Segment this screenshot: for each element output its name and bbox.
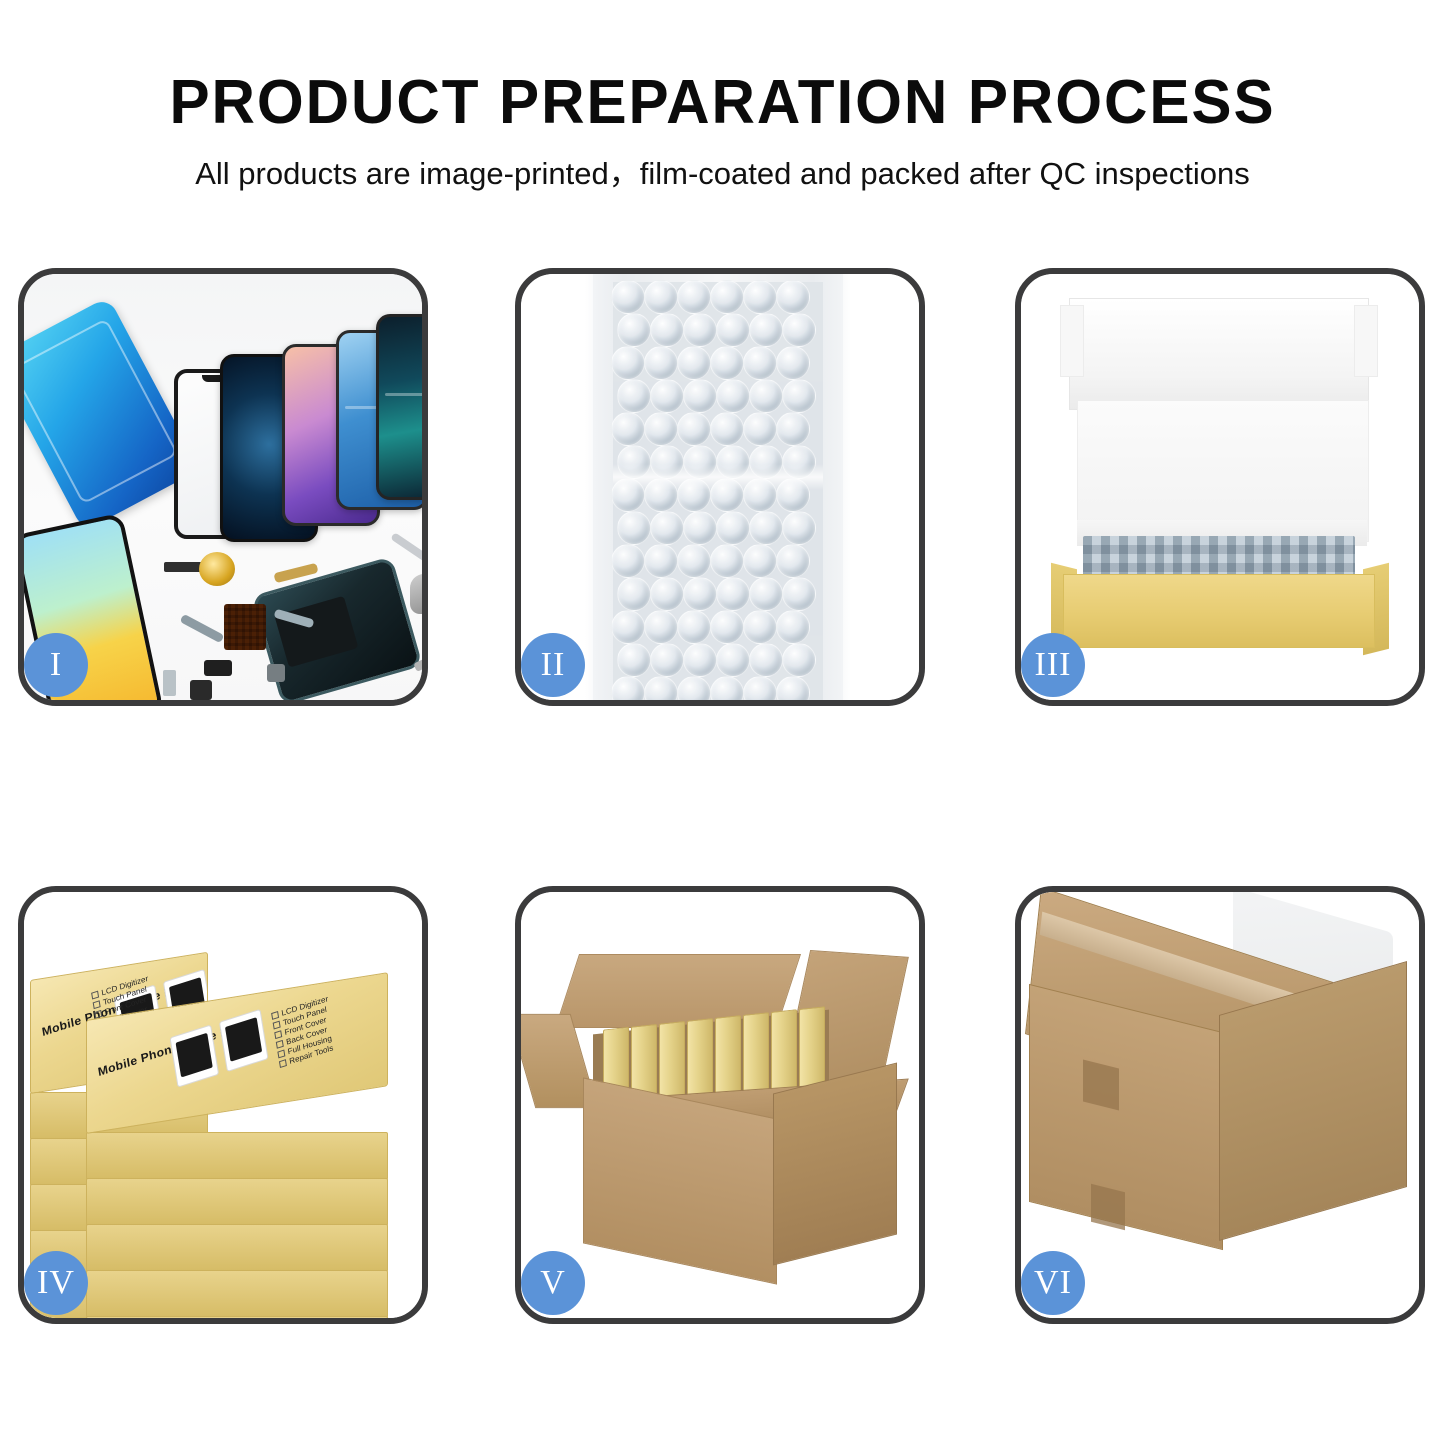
ic-chip-graphic bbox=[224, 604, 266, 650]
bubble-cell bbox=[782, 643, 816, 677]
bubble-cell bbox=[611, 412, 645, 446]
small-part-graphic bbox=[204, 660, 232, 676]
step-image-6 bbox=[1021, 892, 1419, 1318]
box-lid-graphic bbox=[1069, 298, 1369, 410]
bubble-cell bbox=[644, 676, 678, 700]
box-stack-scene: Mobile Phone Spare PartsLCD DigitizerTou… bbox=[24, 892, 422, 1318]
bubble-cell bbox=[782, 577, 816, 611]
step-panel-1 bbox=[18, 268, 428, 706]
bubble-cell bbox=[716, 511, 750, 545]
bubble-cell bbox=[677, 610, 711, 644]
step-image-5 bbox=[521, 892, 919, 1318]
bubble-cell bbox=[677, 544, 711, 578]
bubble-cell bbox=[716, 313, 750, 347]
bubble-cell bbox=[749, 577, 783, 611]
step-badge-3: III bbox=[1021, 633, 1085, 697]
spare-parts-scene bbox=[24, 274, 422, 700]
bubble-cell bbox=[743, 610, 777, 644]
bubble-cell bbox=[677, 280, 711, 314]
bubble-cell bbox=[644, 280, 678, 314]
bubble-cell bbox=[710, 544, 744, 578]
bubble-cell bbox=[776, 610, 810, 644]
carton-loading-scene bbox=[521, 892, 919, 1318]
bubble-cell bbox=[683, 379, 717, 413]
bubble-cell bbox=[611, 676, 645, 700]
camera-part-graphic bbox=[190, 680, 212, 700]
vibrator-part-graphic bbox=[267, 664, 285, 682]
step-badge-4: IV bbox=[24, 1251, 88, 1315]
carton-side-face-graphic bbox=[773, 1063, 897, 1266]
bubble-cell bbox=[749, 511, 783, 545]
bubble-cell bbox=[743, 676, 777, 700]
step-panel-2 bbox=[515, 268, 925, 706]
bubble-cell bbox=[710, 610, 744, 644]
sealed-carton-scene bbox=[1021, 892, 1419, 1318]
step-panel-3 bbox=[1015, 268, 1425, 706]
bubble-cell bbox=[650, 511, 684, 545]
carton-patch-upper-graphic bbox=[1083, 1060, 1119, 1111]
bubble-cell bbox=[749, 643, 783, 677]
step-panel-4: Mobile Phone Spare PartsLCD DigitizerTou… bbox=[18, 886, 428, 1324]
bubble-cell bbox=[650, 577, 684, 611]
bubble-cell bbox=[677, 676, 711, 700]
bubble-cell bbox=[743, 346, 777, 380]
bubble-cell bbox=[776, 412, 810, 446]
retail-box-layer bbox=[86, 1178, 388, 1226]
bubble-cell bbox=[644, 412, 678, 446]
teal-phone-graphic bbox=[376, 314, 422, 500]
bubble-cell bbox=[650, 379, 684, 413]
bubble-cell bbox=[710, 412, 744, 446]
step-badge-2: II bbox=[521, 633, 585, 697]
bubble-cell bbox=[776, 676, 810, 700]
bubble-cell bbox=[776, 544, 810, 578]
bubble-cell bbox=[782, 511, 816, 545]
retail-box-screen-thumbnail bbox=[170, 1024, 220, 1087]
bubble-cell bbox=[650, 313, 684, 347]
bubble-cell bbox=[743, 544, 777, 578]
step-panel-6 bbox=[1015, 886, 1425, 1324]
step-image-4: Mobile Phone Spare PartsLCD DigitizerTou… bbox=[24, 892, 422, 1318]
bubble-sheet bbox=[613, 282, 823, 700]
bubble-cell bbox=[683, 511, 717, 545]
flex-cable-graphic bbox=[180, 614, 225, 644]
retail-box-thumbnails bbox=[170, 1008, 273, 1088]
bubble-cell bbox=[683, 643, 717, 677]
bubble-cell bbox=[782, 313, 816, 347]
film-glare bbox=[613, 464, 823, 490]
bubble-cell bbox=[611, 544, 645, 578]
retail-box-layer bbox=[86, 1270, 388, 1318]
bubble-cell bbox=[749, 313, 783, 347]
step-image-2 bbox=[521, 274, 919, 700]
bubble-cell bbox=[743, 412, 777, 446]
bubble-cell bbox=[716, 379, 750, 413]
box-base-graphic bbox=[1063, 574, 1375, 648]
bubble-cell bbox=[716, 643, 750, 677]
bubble-cell bbox=[617, 643, 651, 677]
bubble-cell bbox=[710, 346, 744, 380]
sim-tray-graphic bbox=[163, 670, 176, 696]
bubble-cell bbox=[617, 511, 651, 545]
speaker-part-graphic bbox=[199, 552, 235, 586]
box-stack-right: Mobile Phone Spare PartsLCD DigitizerTou… bbox=[86, 1020, 386, 1318]
bubble-cell bbox=[710, 676, 744, 700]
bubble-cell bbox=[617, 313, 651, 347]
retail-box-layer bbox=[86, 1316, 388, 1318]
bubble-cell bbox=[782, 379, 816, 413]
bubble-cell bbox=[683, 577, 717, 611]
bubble-cell bbox=[776, 280, 810, 314]
retail-box-screen-thumbnail bbox=[219, 1009, 269, 1072]
bubble-cell bbox=[677, 412, 711, 446]
inner-box-scene bbox=[1021, 274, 1419, 700]
bubble-cell bbox=[644, 610, 678, 644]
bubble-cell bbox=[611, 610, 645, 644]
step-badge-5: V bbox=[521, 1251, 585, 1315]
step-panel-5 bbox=[515, 886, 925, 1324]
bubble-cell bbox=[716, 577, 750, 611]
repair-tool-graphic bbox=[390, 532, 422, 568]
carton-patch-lower-graphic bbox=[1091, 1184, 1125, 1230]
bubble-cell bbox=[743, 280, 777, 314]
bubble-cell bbox=[644, 544, 678, 578]
step-badge-1: I bbox=[24, 633, 88, 697]
step-image-3 bbox=[1021, 274, 1419, 700]
bubble-cell bbox=[617, 577, 651, 611]
bubble-cell bbox=[749, 379, 783, 413]
bubble-wrap-scene bbox=[521, 274, 919, 700]
bubble-cell bbox=[710, 280, 744, 314]
step-image-1 bbox=[24, 274, 422, 700]
bubble-cell bbox=[611, 280, 645, 314]
brush-tool-graphic bbox=[410, 574, 422, 614]
retail-box-checklist: LCD DigitizerTouch PanelFront CoverBack … bbox=[271, 980, 383, 1070]
bubble-cell bbox=[776, 346, 810, 380]
retail-box-layer bbox=[86, 1132, 388, 1180]
retail-box-layer bbox=[86, 1224, 388, 1272]
bubble-cell bbox=[617, 379, 651, 413]
bubble-cell bbox=[644, 346, 678, 380]
bubble-cell bbox=[611, 346, 645, 380]
step-badge-6: VI bbox=[1021, 1251, 1085, 1315]
bubble-cell bbox=[683, 313, 717, 347]
process-step-grid: I II III bbox=[0, 0, 1445, 1445]
bubble-cell bbox=[650, 643, 684, 677]
bubble-cell bbox=[677, 346, 711, 380]
